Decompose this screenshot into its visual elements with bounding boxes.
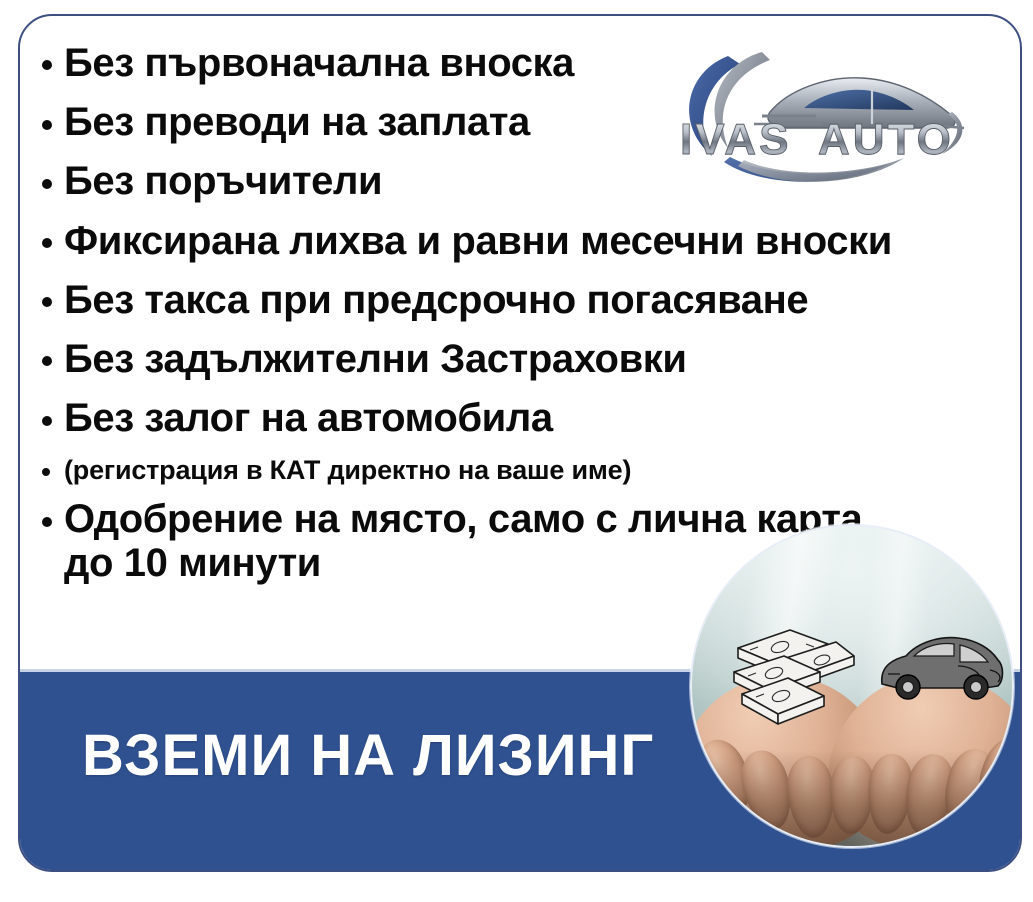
benefit-item: Без преводи на заплата — [42, 101, 1002, 144]
bullet-dot-icon — [42, 416, 52, 426]
benefit-label: Без преводи на заплата — [64, 101, 530, 144]
benefit-label: Без залог на автомобила — [64, 397, 553, 440]
bullet-dot-icon — [42, 120, 52, 130]
benefit-label: Без поръчители — [64, 160, 382, 203]
car-sketch-icon — [872, 622, 1008, 712]
benefit-item: Без такса при предсрочно погасяване — [42, 279, 1002, 322]
benefit-item: Без първоначална вноска — [42, 42, 1002, 85]
money-sketch-icon — [728, 614, 860, 730]
photo-bottom-shadow — [692, 750, 1012, 846]
benefit-label: Без задължителни Застраховки — [64, 338, 687, 381]
bullet-dot-icon — [42, 60, 52, 70]
benefit-item: Без поръчители — [42, 160, 1002, 203]
benefit-item-note: (регистрация в КАТ директно на ваше име) — [42, 456, 1002, 485]
benefit-label: Без такса при предсрочно погасяване — [64, 279, 808, 322]
bullet-dot-icon — [42, 517, 52, 527]
benefit-note-label: (регистрация в КАТ директно на ваше име) — [64, 456, 631, 485]
advertisement-root: IVAS AUTO Без първоначална вноска Без пр… — [0, 0, 1033, 902]
bullet-dot-icon — [42, 468, 50, 476]
benefit-label: Без първоначална вноска — [64, 42, 574, 85]
offer-card: IVAS AUTO Без първоначална вноска Без пр… — [18, 14, 1022, 872]
bullet-dot-icon — [42, 297, 52, 307]
benefit-item: Без задължителни Застраховки — [42, 338, 1002, 381]
bullet-dot-icon — [42, 238, 52, 248]
leasing-banner-headline: ВЗЕМИ НА ЛИЗИНГ — [82, 722, 654, 789]
hands-holding-money-and-car-photo — [690, 524, 1014, 848]
benefit-item: Без залог на автомобила — [42, 397, 1002, 440]
bullet-dot-icon — [42, 179, 52, 189]
benefit-item: Фиксирана лихва и равни месечни вноски — [42, 220, 1002, 263]
bullet-dot-icon — [42, 356, 52, 366]
benefits-list: Без първоначална вноска Без преводи на з… — [42, 42, 1002, 585]
benefit-label: Фиксирана лихва и равни месечни вноски — [64, 220, 892, 263]
